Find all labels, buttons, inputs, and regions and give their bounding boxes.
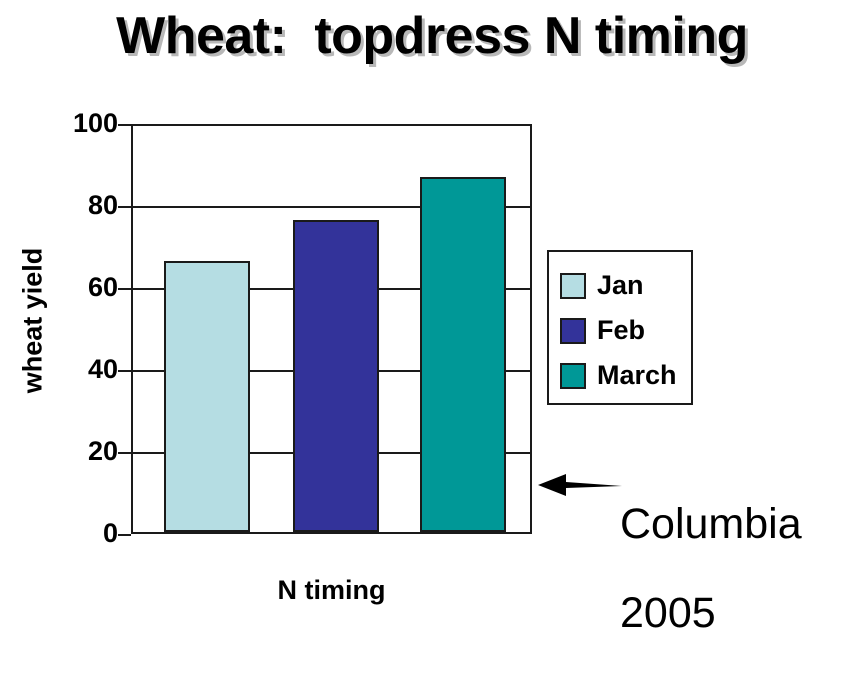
legend: Jan Feb March	[547, 250, 693, 405]
y-tick-mark-20	[118, 452, 131, 454]
plot-area	[131, 124, 532, 534]
y-tick-label-100: 100	[8, 110, 118, 137]
x-axis-title: N timing	[131, 575, 532, 606]
legend-item-jan[interactable]: Jan	[560, 263, 691, 308]
y-tick-mark-0	[118, 534, 131, 536]
annotation-line-1: Columbia	[620, 502, 864, 546]
annotation-label: Columbia 2005	[620, 458, 864, 679]
y-tick-label-0: 0	[8, 520, 118, 547]
y-tick-label-20: 20	[8, 438, 118, 465]
page-title: Wheat: topdress N timing	[0, 6, 864, 66]
annotation-line-2: 2005	[620, 591, 864, 635]
y-tick-mark-80	[118, 206, 131, 208]
bar-march[interactable]	[420, 177, 506, 532]
bar-jan[interactable]	[164, 261, 250, 532]
legend-swatch-icon-march	[560, 363, 586, 389]
legend-item-feb[interactable]: Feb	[560, 308, 691, 353]
legend-label-march: March	[597, 362, 677, 389]
legend-label-jan: Jan	[597, 272, 644, 299]
y-tick-mark-40	[118, 370, 131, 372]
legend-item-march[interactable]: March	[560, 353, 691, 398]
y-tick-mark-100	[118, 124, 131, 126]
y-axis-title: wheat yield	[18, 216, 49, 426]
left-arrow-icon	[536, 470, 622, 500]
legend-label-feb: Feb	[597, 317, 645, 344]
legend-swatch-icon-jan	[560, 273, 586, 299]
legend-swatch-icon-feb	[560, 318, 586, 344]
bar-feb[interactable]	[293, 220, 379, 532]
y-tick-mark-60	[118, 288, 131, 290]
